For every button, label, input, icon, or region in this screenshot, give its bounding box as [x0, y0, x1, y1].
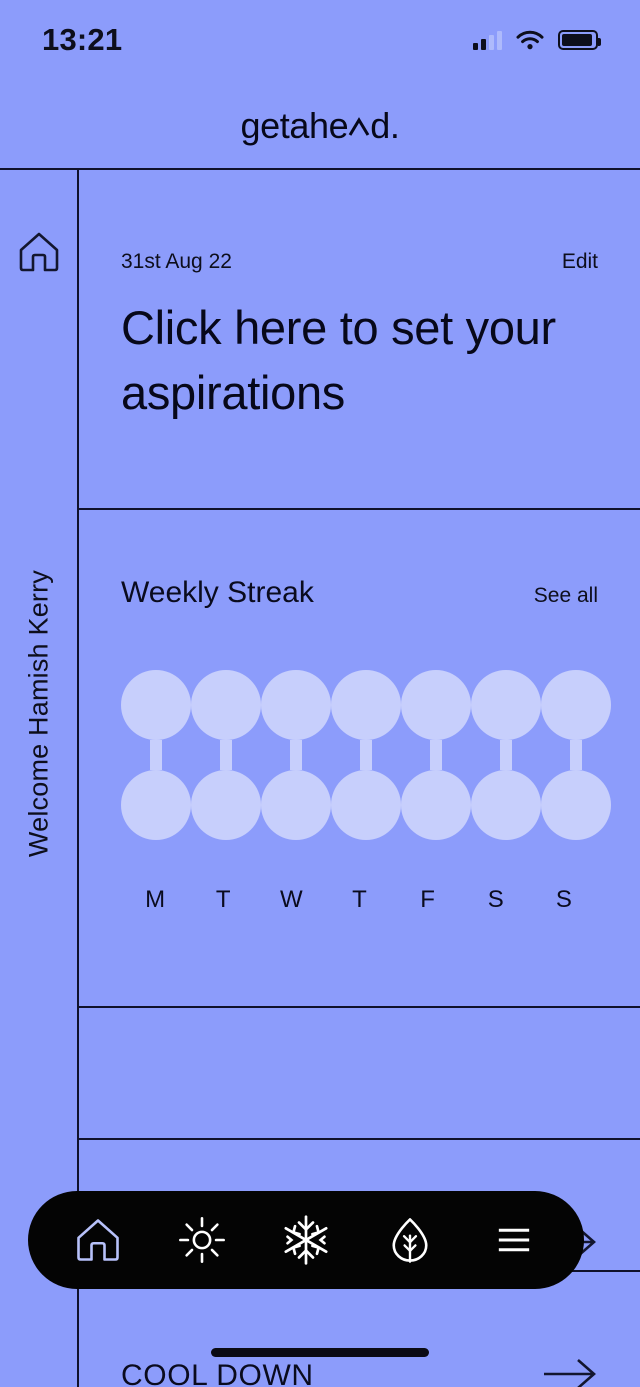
nav-item-cool-down[interactable] — [267, 1201, 345, 1279]
a-chevron-icon — [348, 102, 370, 138]
status-indicators — [473, 30, 598, 50]
aspiration-card[interactable]: 31st Aug 22 Edit Click here to set your … — [79, 170, 640, 510]
phone-screen: 13:21 getahe d. — [0, 0, 640, 1387]
aspiration-card-header: 31st Aug 22 Edit — [121, 170, 598, 274]
status-bar: 13:21 — [0, 0, 640, 80]
streak-dot-top — [471, 670, 541, 740]
aspiration-date: 31st Aug 22 — [121, 250, 232, 274]
brand-text-after: d. — [370, 105, 399, 147]
streak-dot-bottom — [541, 770, 611, 840]
leaf-icon — [384, 1214, 436, 1266]
day-label: F — [394, 886, 462, 914]
brand-logo: getahe d. — [241, 102, 400, 147]
wifi-icon — [516, 30, 544, 50]
streak-dot-top — [401, 670, 471, 740]
weekly-streak-grid — [121, 670, 598, 840]
streak-dot-top — [331, 670, 401, 740]
home-icon — [72, 1214, 124, 1266]
aspiration-title[interactable]: Click here to set your aspirations — [121, 296, 598, 426]
day-label: T — [325, 886, 393, 914]
day-label: W — [257, 886, 325, 914]
app-header: getahe d. — [0, 80, 640, 168]
streak-dot-bottom — [261, 770, 331, 840]
streak-connector — [430, 740, 442, 770]
snowflake-icon — [278, 1212, 334, 1268]
day-label: M — [121, 886, 189, 914]
cellular-signal-icon — [473, 30, 502, 50]
streak-dot-bottom — [191, 770, 261, 840]
streak-connector — [570, 740, 582, 770]
home-indicator — [211, 1348, 429, 1357]
streak-connector — [290, 740, 302, 770]
streak-day-3[interactable] — [331, 670, 401, 840]
nav-item-wellbeing[interactable] — [371, 1201, 449, 1279]
day-label: S — [530, 886, 598, 914]
streak-day-4[interactable] — [401, 670, 471, 840]
streak-dot-top — [191, 670, 261, 740]
streak-day-5[interactable] — [471, 670, 541, 840]
nav-item-menu[interactable] — [475, 1201, 553, 1279]
day-label: T — [189, 886, 257, 914]
day-label: S — [462, 886, 530, 914]
nav-item-home[interactable] — [59, 1201, 137, 1279]
edit-button[interactable]: Edit — [562, 250, 598, 274]
streak-dot-bottom — [121, 770, 191, 840]
streak-day-0[interactable] — [121, 670, 191, 840]
streak-day-2[interactable] — [261, 670, 331, 840]
see-all-button[interactable]: See all — [534, 584, 598, 608]
weekly-streak-day-labels: MTWTFSS — [121, 886, 598, 914]
battery-icon — [558, 30, 598, 50]
streak-dot-bottom — [401, 770, 471, 840]
sidebar-home-icon[interactable] — [15, 228, 63, 281]
streak-dot-top — [121, 670, 191, 740]
welcome-message: Welcome Hamish Kerry — [23, 570, 54, 857]
nav-item-warm-up[interactable] — [163, 1201, 241, 1279]
weekly-streak-title: Weekly Streak — [121, 576, 314, 610]
bottom-navigation-bar — [28, 1191, 584, 1289]
streak-dot-bottom — [331, 770, 401, 840]
arrow-right-icon[interactable] — [542, 1357, 598, 1387]
status-time: 13:21 — [42, 22, 122, 58]
streak-connector — [500, 740, 512, 770]
streak-connector — [220, 740, 232, 770]
cool-down-label: COOL DOWN — [121, 1359, 314, 1387]
streak-dot-top — [261, 670, 331, 740]
streak-day-6[interactable] — [541, 670, 611, 840]
streak-day-1[interactable] — [191, 670, 261, 840]
streak-connector — [360, 740, 372, 770]
hamburger-menu-icon — [488, 1214, 540, 1266]
sun-icon — [176, 1214, 228, 1266]
weekly-streak-header: Weekly Streak See all — [121, 512, 598, 610]
streak-dot-bottom — [471, 770, 541, 840]
streak-dot-top — [541, 670, 611, 740]
weekly-streak-card: Weekly Streak See all MTWTFSS — [79, 512, 640, 1178]
streak-connector — [150, 740, 162, 770]
brand-text-before: getahe — [241, 105, 349, 147]
